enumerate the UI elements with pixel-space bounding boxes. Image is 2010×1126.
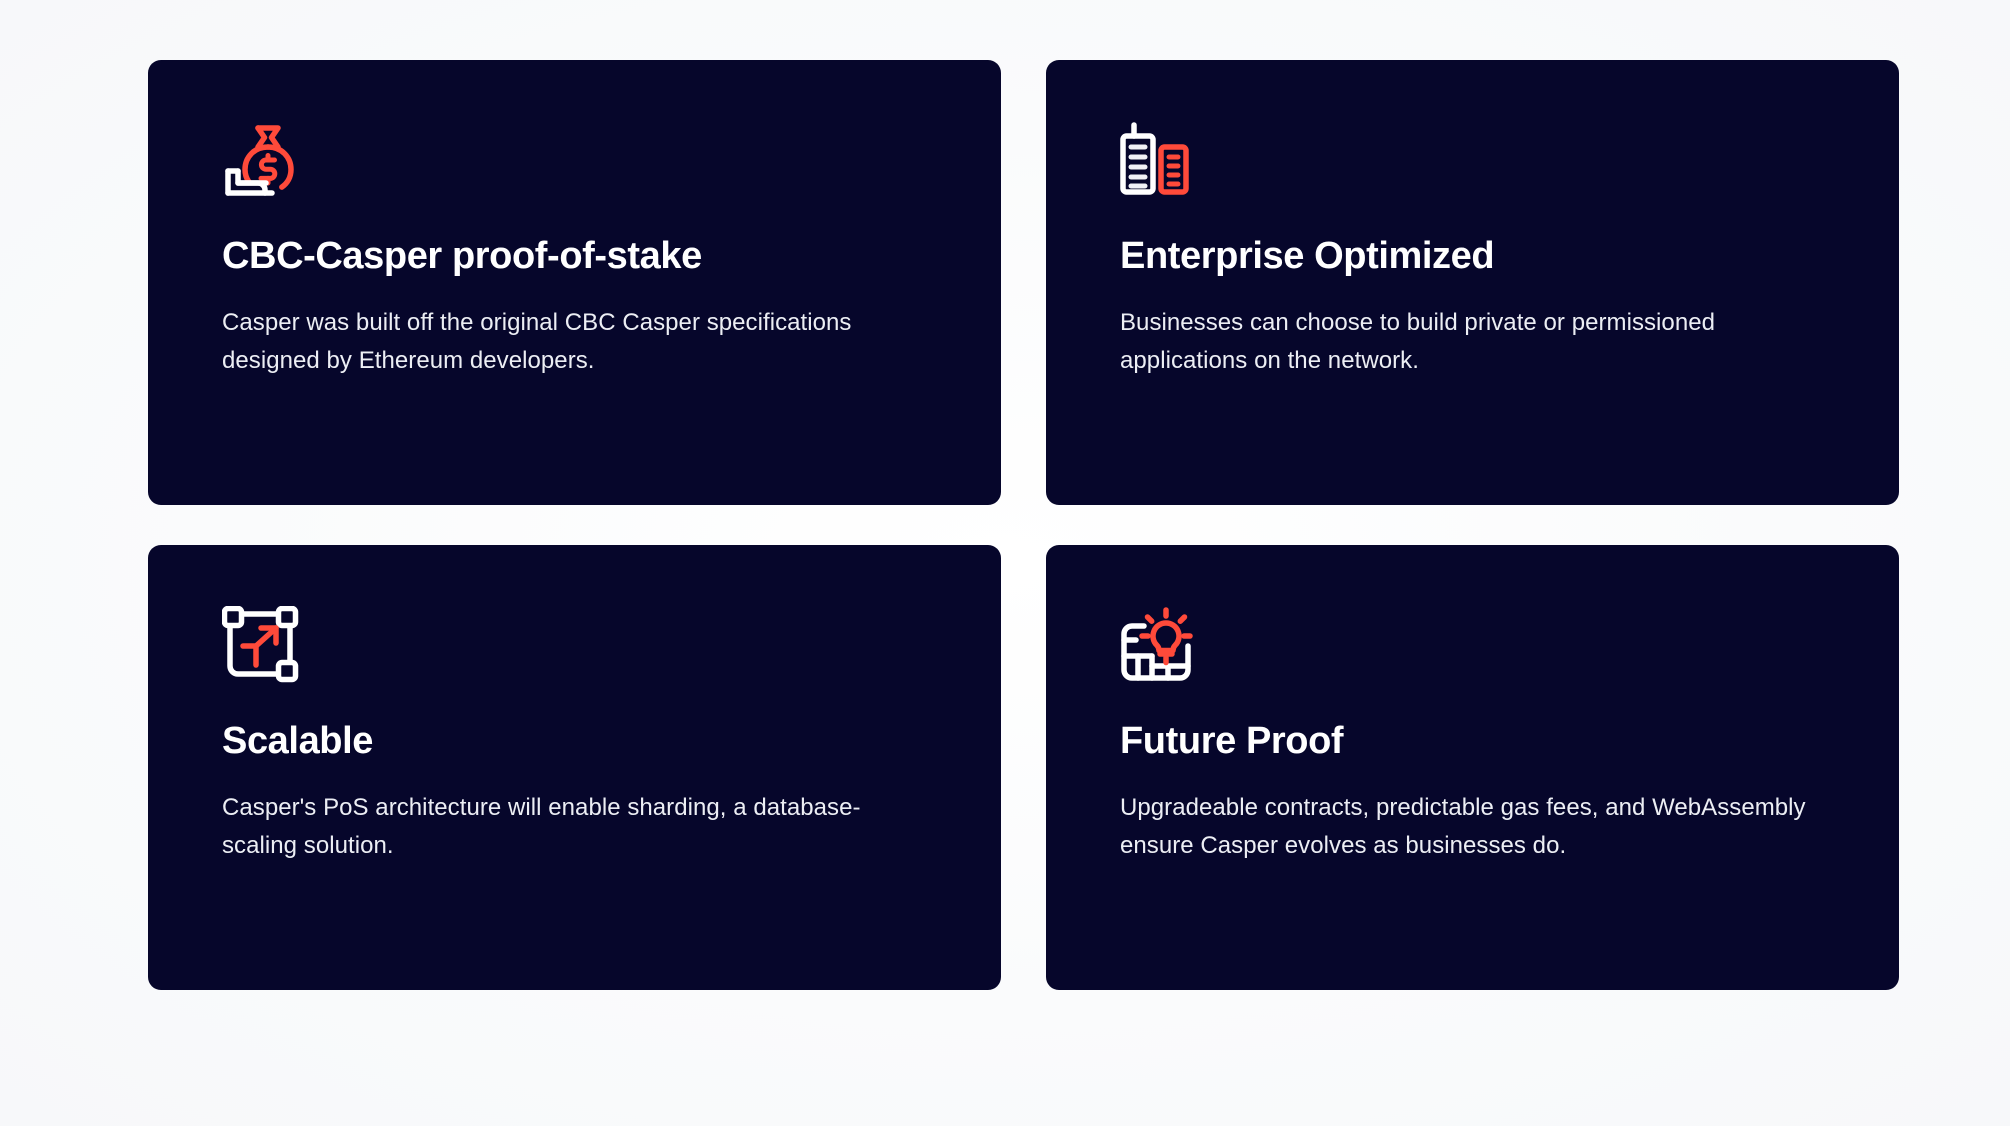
card-body: Businesses can choose to build private o… — [1120, 304, 1820, 382]
card-body: Casper's PoS architecture will enable sh… — [222, 789, 922, 867]
scale-expand-arrow-icon — [222, 606, 1001, 678]
office-buildings-icon — [1120, 121, 1899, 193]
feature-card-enterprise-optimized[interactable]: Enterprise Optimized Businesses can choo… — [1046, 60, 1899, 505]
card-body: Upgradeable contracts, predictable gas f… — [1120, 789, 1820, 867]
money-bag-in-hand-icon — [222, 121, 1001, 193]
feature-card-scalable[interactable]: Scalable Casper's PoS architecture will … — [148, 545, 1001, 990]
lightbulb-circuit-icon — [1120, 606, 1899, 678]
card-title: Scalable — [222, 720, 1001, 763]
card-title: CBC-Casper proof-of-stake — [222, 235, 1001, 278]
feature-section: CBC-Casper proof-of-stake Casper was bui… — [0, 0, 2010, 1126]
feature-card-cbc-casper[interactable]: CBC-Casper proof-of-stake Casper was bui… — [148, 60, 1001, 505]
card-title: Future Proof — [1120, 720, 1899, 763]
feature-card-grid: CBC-Casper proof-of-stake Casper was bui… — [148, 60, 1898, 990]
card-title: Enterprise Optimized — [1120, 235, 1899, 278]
feature-card-future-proof[interactable]: Future Proof Upgradeable contracts, pred… — [1046, 545, 1899, 990]
card-body: Casper was built off the original CBC Ca… — [222, 304, 922, 382]
